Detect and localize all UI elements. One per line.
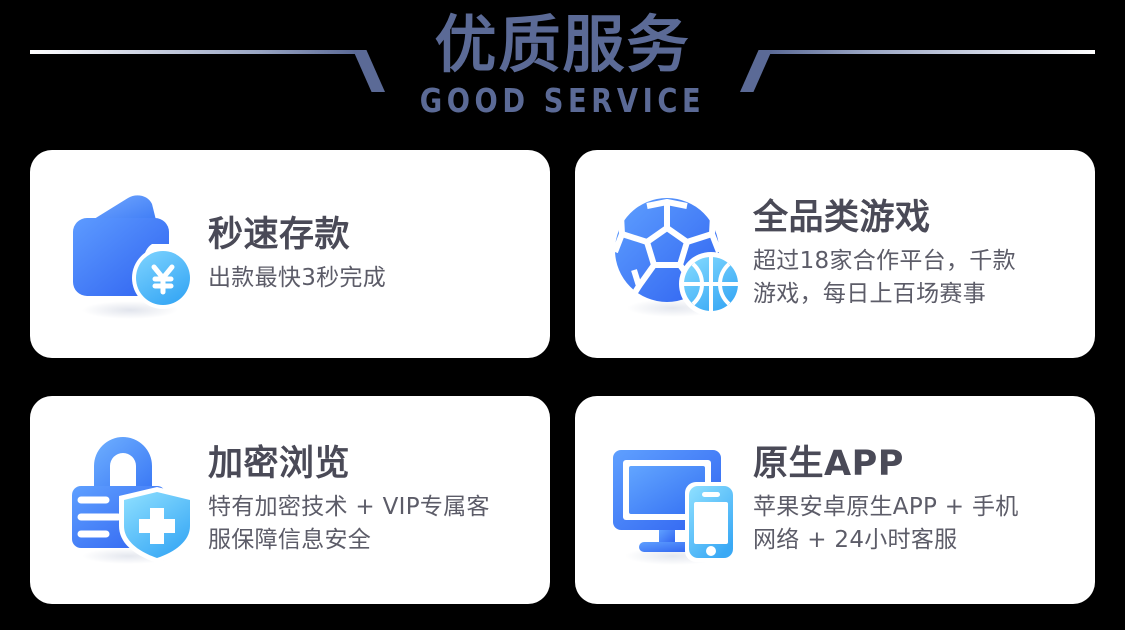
wallet-yen-icon [56, 180, 204, 328]
card-title: 原生APP [753, 443, 1075, 485]
feature-card-native-app[interactable]: 原生APP 苹果安卓原生APP + 手机 网络 + 24小时客服 [575, 396, 1095, 604]
feature-card-games[interactable]: 全品类游戏 超过18家合作平台，千款 游戏，每日上百场赛事 [575, 150, 1095, 358]
card-text-block: 全品类游戏 超过18家合作平台，千款 游戏，每日上百场赛事 [749, 197, 1075, 310]
page-title-block: 优质服务 GOOD SERVICE [0, 8, 1125, 119]
card-description-line: 苹果安卓原生APP + 手机 [753, 491, 1075, 524]
card-description: 超过18家合作平台，千款 游戏，每日上百场赛事 [753, 245, 1075, 310]
card-description: 苹果安卓原生APP + 手机 网络 + 24小时客服 [753, 491, 1075, 556]
feature-card-grid: 秒速存款 出款最快3秒完成 [30, 150, 1095, 604]
card-description-line: 网络 + 24小时客服 [753, 524, 1075, 557]
card-title: 秒速存款 [208, 214, 530, 256]
card-description-line: 出款最快3秒完成 [208, 262, 530, 295]
feature-card-deposit[interactable]: 秒速存款 出款最快3秒完成 [30, 150, 550, 358]
monitor-phone-icon [601, 426, 749, 574]
feature-card-encryption[interactable]: 加密浏览 特有加密技术 + VIP专属客 服保障信息安全 [30, 396, 550, 604]
card-text-block: 原生APP 苹果安卓原生APP + 手机 网络 + 24小时客服 [749, 443, 1075, 556]
page-header: 优质服务 GOOD SERVICE [0, 0, 1125, 148]
page-title: 优质服务 [0, 8, 1125, 81]
card-description-line: 特有加密技术 + VIP专属客 [208, 491, 530, 524]
header-inner: 优质服务 GOOD SERVICE [0, 0, 1125, 148]
card-title: 加密浏览 [208, 443, 530, 485]
card-description: 出款最快3秒完成 [208, 262, 530, 295]
card-description: 特有加密技术 + VIP专属客 服保障信息安全 [208, 491, 530, 556]
page-root: 优质服务 GOOD SERVICE [0, 0, 1125, 630]
card-description-line: 服保障信息安全 [208, 524, 530, 557]
card-description-line: 超过18家合作平台，千款 [753, 245, 1075, 278]
card-text-block: 加密浏览 特有加密技术 + VIP专属客 服保障信息安全 [204, 443, 530, 556]
soccer-basketball-icon [601, 180, 749, 328]
lock-shield-icon [56, 426, 204, 574]
card-title: 全品类游戏 [753, 197, 1075, 239]
card-description-line: 游戏，每日上百场赛事 [753, 278, 1075, 311]
card-text-block: 秒速存款 出款最快3秒完成 [204, 214, 530, 295]
page-subtitle: GOOD SERVICE [45, 83, 1080, 119]
